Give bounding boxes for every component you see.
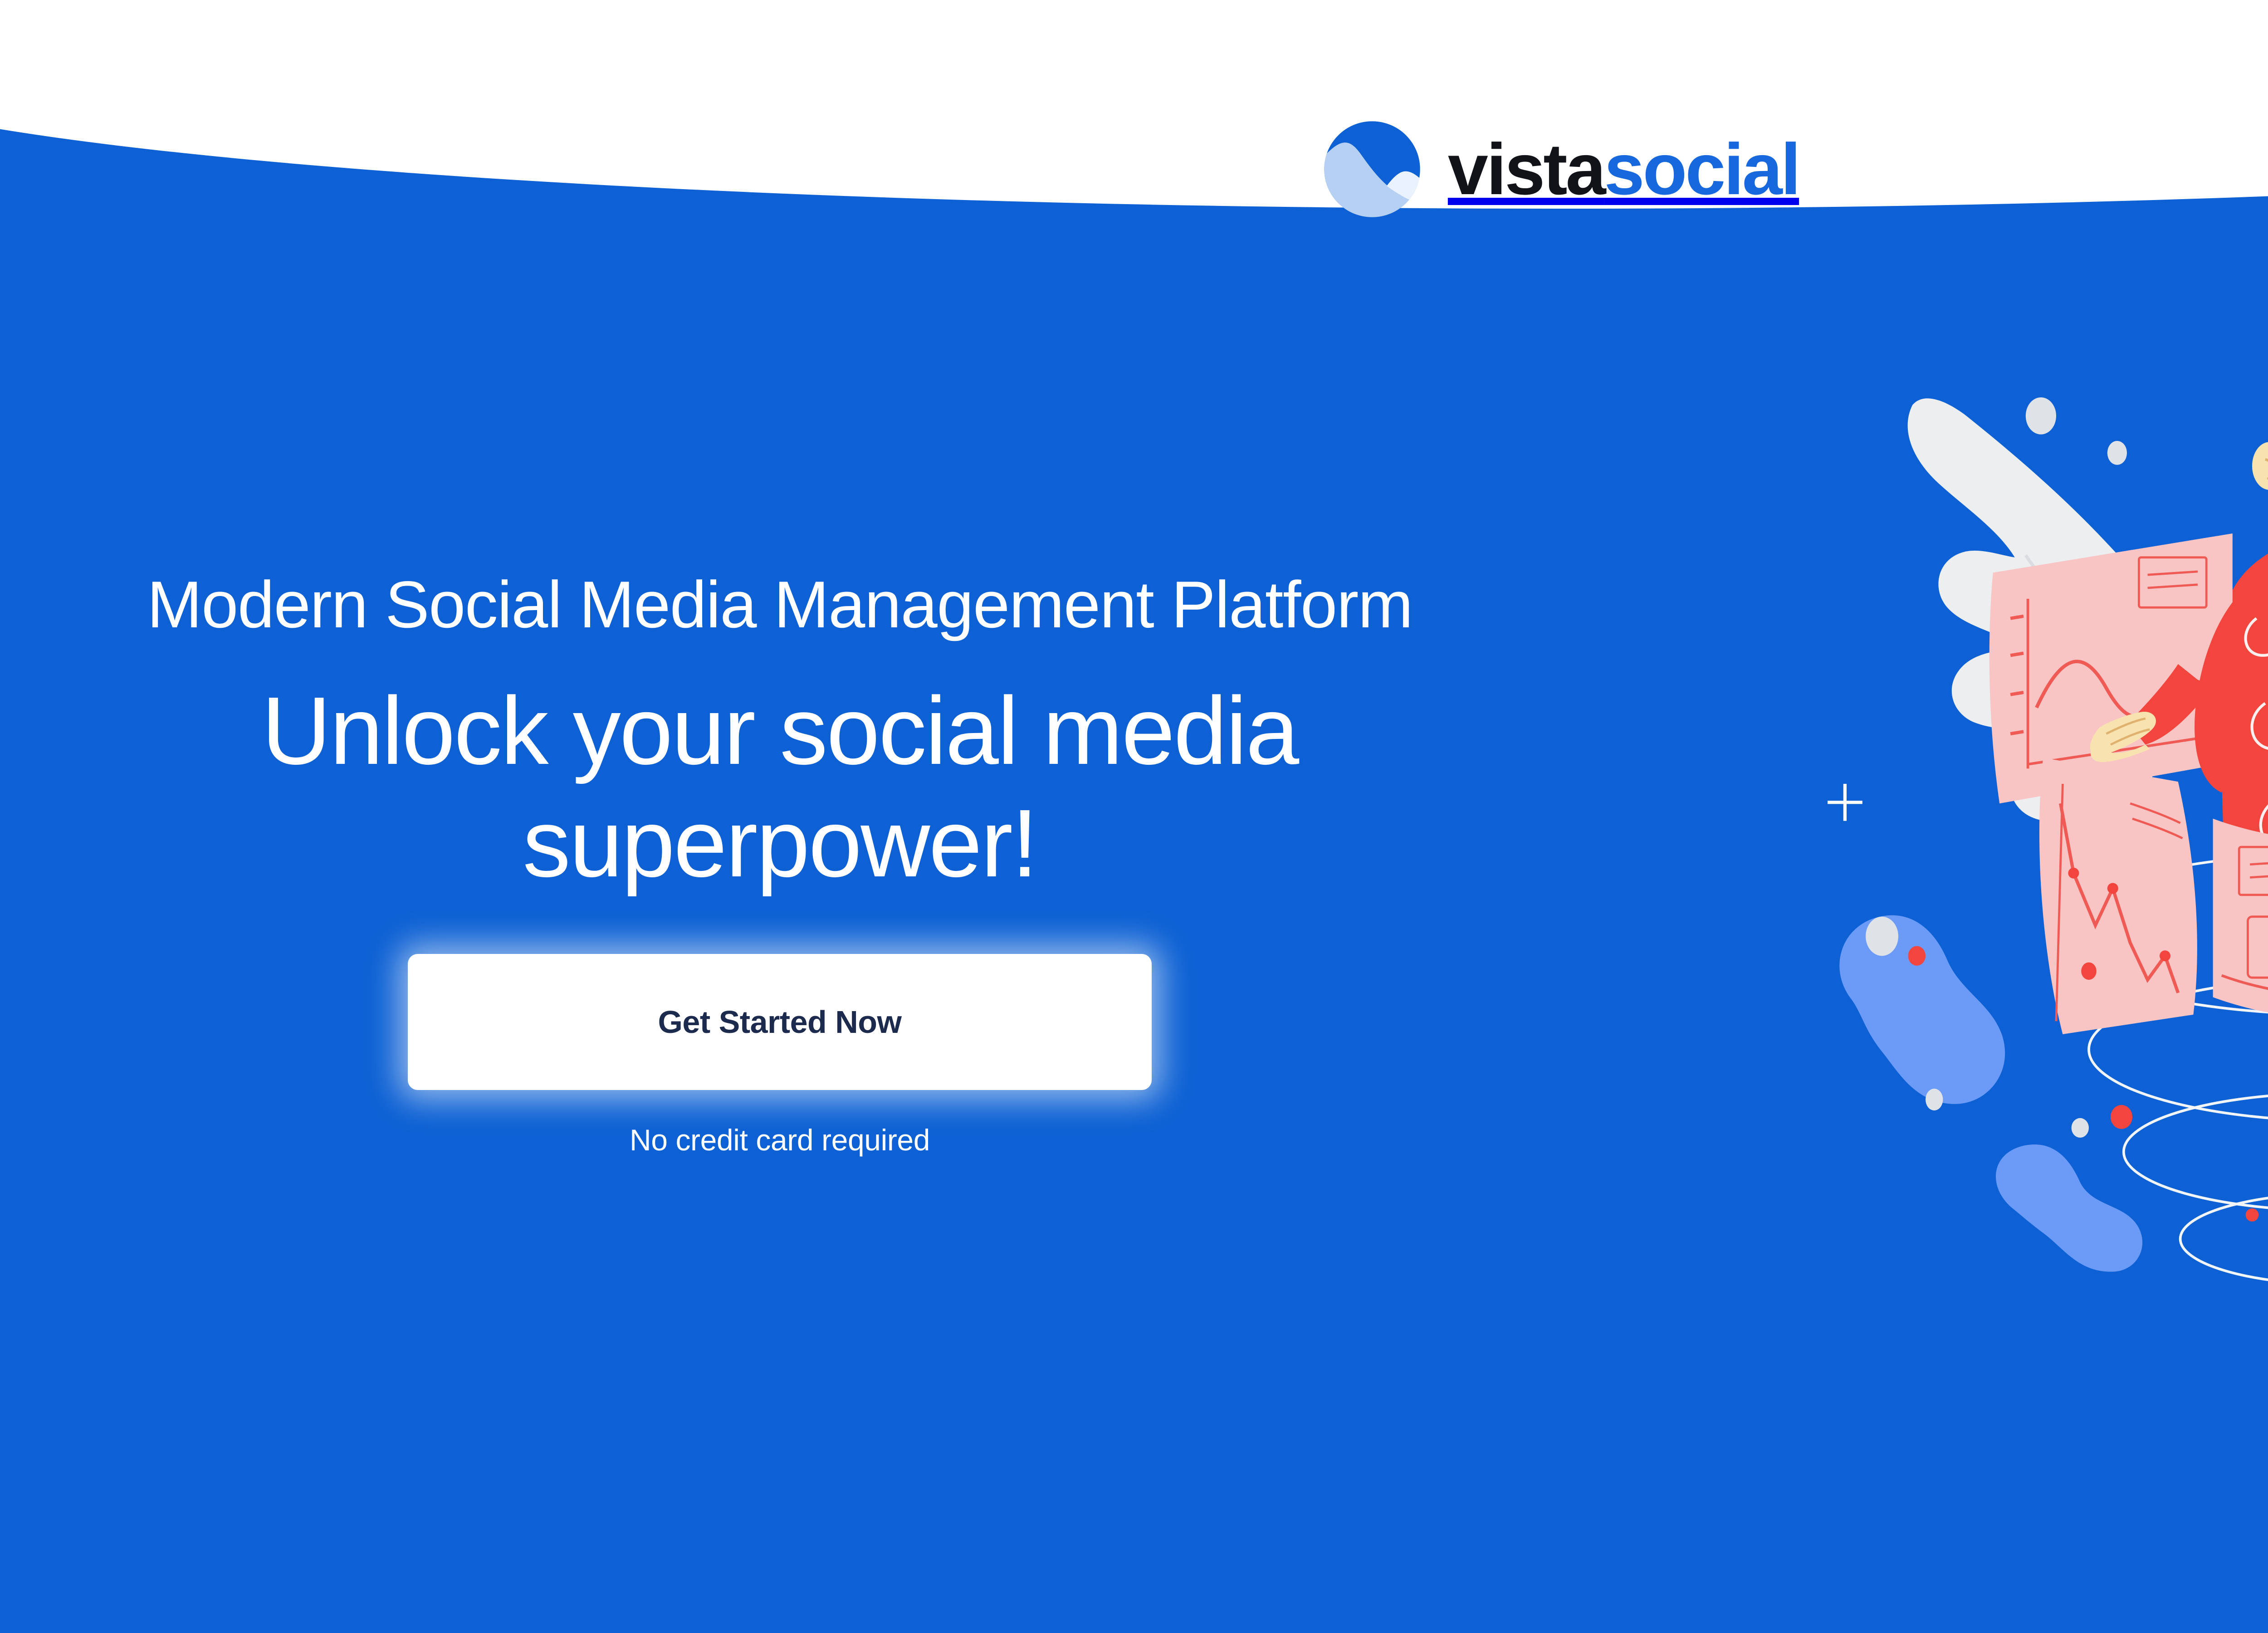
jagged-line-card	[2039, 758, 2197, 1034]
page-title: Unlock your social media superpower!	[262, 675, 1298, 900]
ring-3	[2124, 1093, 2268, 1211]
light-blue-blob-bottom-left	[1996, 1144, 2142, 1272]
ear	[2252, 442, 2268, 490]
brand-logo-link[interactable]: vistasocial	[1320, 117, 1799, 221]
man-with-floating-analytics-dashboards-illustration	[1795, 272, 2268, 1361]
get-started-button[interactable]: Get Started Now	[408, 954, 1152, 1090]
brand-name-part-1: vista	[1448, 128, 1604, 210]
brand-wordmark: vistasocial	[1448, 133, 1799, 205]
no-credit-card-note: No credit card required	[630, 1123, 930, 1157]
headline-line-1: Unlock your social media	[262, 677, 1298, 784]
bar-chart-card	[2213, 819, 2268, 1021]
vista-social-mountain-circle-icon	[1320, 117, 1424, 221]
figure-head	[2252, 314, 2268, 575]
hero-eyebrow: Modern Social Media Management Platform	[147, 567, 1413, 643]
brand-name-part-2: social	[1604, 128, 1799, 210]
light-blue-blob-left	[1839, 915, 2005, 1104]
line-chart-card	[1989, 533, 2233, 803]
headline-line-2: superpower!	[523, 789, 1037, 897]
header-logo-row: vistasocial	[0, 0, 2268, 345]
